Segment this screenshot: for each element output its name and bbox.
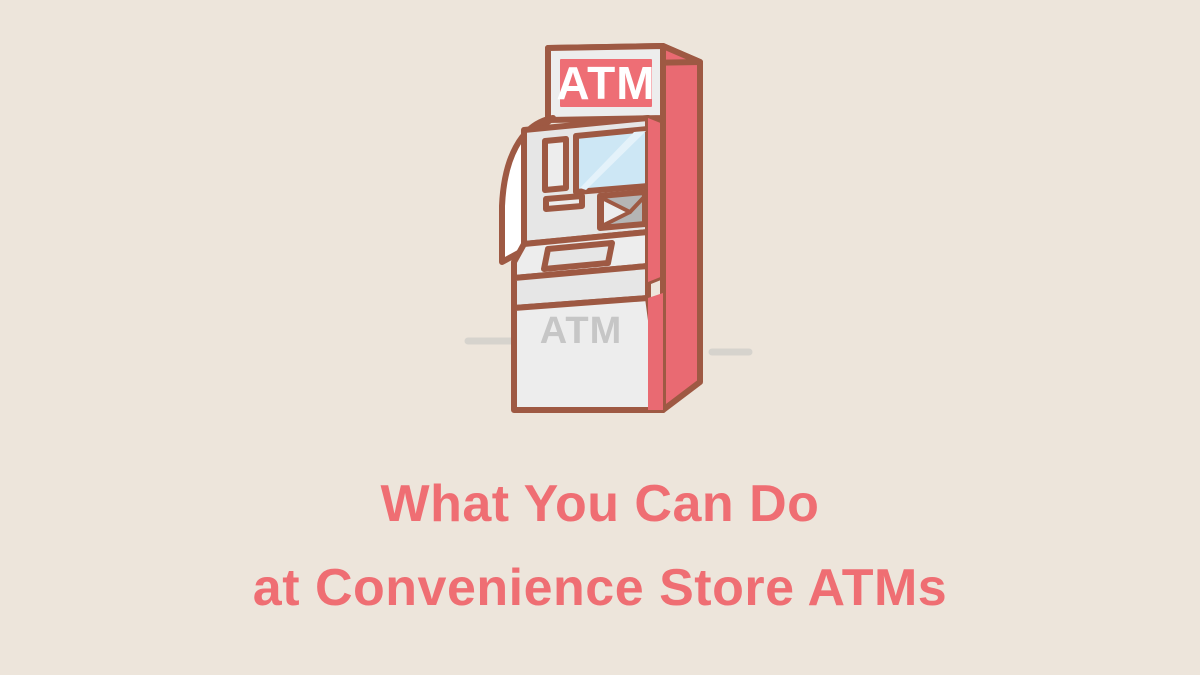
atm-card-slot bbox=[545, 139, 566, 190]
atm-panel-label: ATM bbox=[540, 310, 623, 352]
atm-receipt-slot bbox=[546, 196, 582, 209]
page-title-line-1: What You Can Do bbox=[0, 462, 1200, 546]
atm-sign-label: ATM bbox=[556, 57, 655, 109]
atm-keypad bbox=[544, 243, 612, 269]
page-title-line-2: at Convenience Store ATMs bbox=[0, 546, 1200, 630]
page-title: What You Can Do at Convenience Store ATM… bbox=[0, 462, 1200, 630]
atm-illustration: ATM ATM bbox=[0, 0, 1200, 460]
atm-lower-side-wedge bbox=[648, 293, 663, 410]
page-root: ATM ATM What You Can Do at Convenience S… bbox=[0, 0, 1200, 675]
atm-side-panel bbox=[663, 46, 700, 410]
atm-illustration-svg: ATM ATM bbox=[0, 0, 1200, 460]
